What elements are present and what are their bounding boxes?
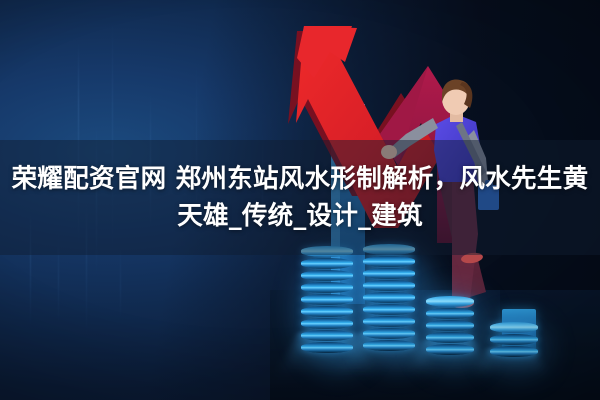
banner-image: 荣耀配资官网 郑州东站风水形制解析，风水先生黄 天雄_传统_设计_建筑	[0, 0, 600, 400]
headline-overlay-band	[0, 140, 600, 255]
